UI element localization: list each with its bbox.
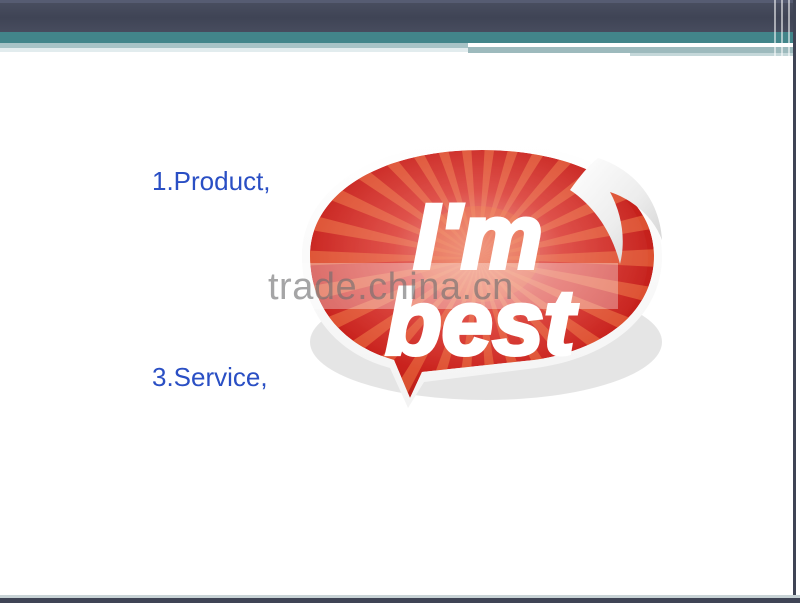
- header-right-teal-bar: [468, 32, 800, 43]
- slide-bottom-border: [0, 598, 800, 603]
- im-best-sticker-graphic: I'm best: [282, 136, 682, 408]
- bullet-item-service: 3.Service,: [152, 362, 268, 393]
- header-tick-mark-3: [788, 0, 790, 56]
- header-tick-mark-2: [781, 0, 783, 56]
- header-navy-highlight: [0, 0, 800, 3]
- slide-right-margin: [796, 0, 800, 603]
- header-tick-mark-1: [774, 0, 776, 56]
- bullet-item-product: 1.Product,: [152, 166, 271, 197]
- slide-canvas: I'm best 1.Product, 3.Service, trade.chi…: [0, 0, 800, 603]
- sticker-line2-text: best: [385, 272, 578, 374]
- header-navy-bar: [0, 0, 800, 32]
